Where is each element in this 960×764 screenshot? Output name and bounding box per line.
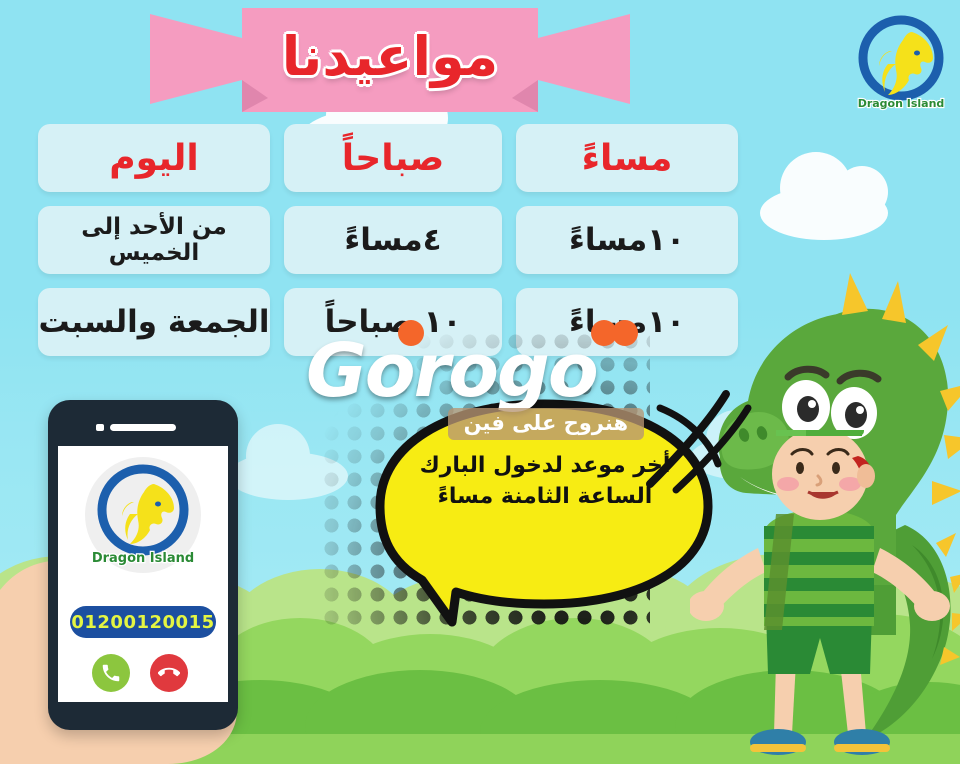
cell-morning: ٤مساءً — [284, 206, 502, 274]
decline-glyph — [158, 662, 180, 684]
dragon-logo-icon: Dragon Island — [82, 454, 204, 576]
svg-text:Dragon Island: Dragon Island — [92, 551, 194, 566]
header-label-morning: صباحاً — [342, 138, 444, 179]
cell-value-evening: ١٠مساءً — [569, 222, 685, 258]
phone-decline-icon[interactable] — [150, 654, 188, 692]
phone-speaker-icon — [110, 424, 176, 431]
phone-camera-icon — [96, 424, 104, 431]
header-label-evening: مساءً — [582, 138, 673, 179]
table-row: ١٠مساءً ٤مساءً من الأحد إلى الخميس — [38, 206, 738, 274]
dragon-logo-icon: Dragon Island — [848, 8, 954, 114]
motion-lines — [640, 388, 760, 498]
phone-accept-icon[interactable] — [92, 654, 130, 692]
header-label-day: اليوم — [109, 138, 199, 179]
cell-value-day: الجمعة والسبت — [38, 304, 269, 340]
title-ribbon: مواعيدنا — [150, 8, 630, 112]
phone-screen: Dragon Island 01200120015 — [58, 446, 228, 702]
promo-poster: مواعيدنا مساءً صباحاً اليوم ١٠مساءً ٤مسا… — [0, 0, 960, 764]
cell-day: من الأحد إلى الخميس — [38, 206, 270, 274]
accept-glyph — [100, 662, 122, 684]
phone-number: 01200120015 — [70, 606, 216, 638]
cell-value-day: من الأحد إلى الخميس — [38, 214, 270, 266]
header-cell-day: اليوم — [38, 124, 270, 192]
cell-day: الجمعة والسبت — [38, 288, 270, 356]
smartphone: Dragon Island 01200120015 — [48, 400, 238, 730]
header-cell-morning: صباحاً — [284, 124, 502, 192]
header-cell-evening: مساءً — [516, 124, 738, 192]
table-header-row: مساءً صباحاً اليوم — [38, 124, 738, 192]
svg-text:Dragon Island: Dragon Island — [858, 97, 945, 110]
cell-value-morning: ٤مساءً — [344, 222, 441, 258]
page-title: مواعيدنا — [150, 8, 630, 112]
